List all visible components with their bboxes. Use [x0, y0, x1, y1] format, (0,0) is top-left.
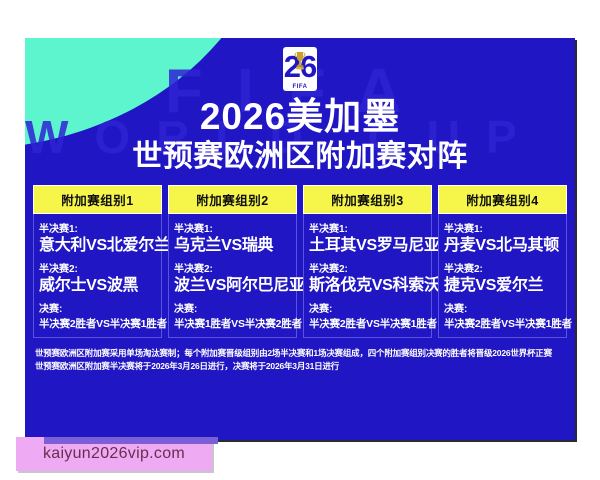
final-label: 决赛: [39, 300, 156, 315]
final-match: 半决赛2胜者VS半决赛1胜者 [309, 316, 426, 331]
group-header: 附加赛组别1 [33, 185, 162, 214]
group-column-1: 附加赛组别1 半决赛1: 意大利VS北爱尔兰 半决赛2: 威尔士VS波黑 决赛:… [33, 185, 162, 338]
watermark-bar [44, 437, 218, 444]
fifa-world-cup-26-emblem-icon: 26 FIFA [283, 47, 317, 91]
page-subtitle: 世预赛欧洲区附加赛对阵 [25, 140, 575, 173]
group-body: 半决赛1: 丹麦VS北马其顿 半决赛2: 捷克VS爱尔兰 决赛: 半决赛2胜者V… [438, 214, 567, 338]
group-column-2: 附加赛组别2 半决赛1: 乌克兰VS瑞典 半决赛2: 波兰VS阿尔巴尼亚 决赛:… [168, 185, 297, 338]
semifinal1-match: 乌克兰VS瑞典 [174, 236, 291, 256]
note-schedule: 世预赛欧洲区附加赛半决赛将于2026年3月26日进行，决赛将于2026年3月31… [35, 360, 565, 373]
semifinal1-match: 丹麦VS北马其顿 [444, 236, 561, 256]
semifinal2-label: 半决赛2: [39, 260, 156, 275]
final-label: 决赛: [174, 300, 291, 315]
semifinal2-label: 半决赛2: [309, 260, 426, 275]
semifinal1-label: 半决赛1: [39, 220, 156, 235]
final-label: 决赛: [444, 300, 561, 315]
group-header: 附加赛组别3 [303, 185, 432, 214]
final-label: 决赛: [309, 300, 426, 315]
final-match: 半决赛2胜者VS半决赛1胜者 [444, 316, 561, 331]
group-header: 附加赛组别2 [168, 185, 297, 214]
footer-notes: 世预赛欧洲区附加赛采用单场淘汰赛制；每个附加赛晋级组别由2场半决赛和1场决赛组成… [25, 347, 575, 373]
note-format: 世预赛欧洲区附加赛采用单场淘汰赛制；每个附加赛晋级组别由2场半决赛和1场决赛组成… [35, 347, 565, 360]
poster-header: 26 FIFA 2026美加墨 世预赛欧洲区附加赛对阵 [25, 38, 575, 173]
semifinal1-match: 意大利VS北爱尔兰 [39, 236, 156, 256]
group-column-4: 附加赛组别4 半决赛1: 丹麦VS北马其顿 半决赛2: 捷克VS爱尔兰 决赛: … [438, 185, 567, 338]
semifinal2-match: 威尔士VS波黑 [39, 276, 156, 296]
playoff-groups: 附加赛组别1 半决赛1: 意大利VS北爱尔兰 半决赛2: 威尔士VS波黑 决赛:… [25, 185, 575, 338]
site-watermark: kaiyun2026vip.com [16, 437, 212, 471]
semifinal1-label: 半决赛1: [174, 220, 291, 235]
trophy-icon [293, 50, 307, 77]
final-match: 半决赛1胜者VS半决赛2胜者 [174, 316, 291, 331]
final-match: 半决赛2胜者VS半决赛1胜者 [39, 316, 156, 331]
group-body: 半决赛1: 意大利VS北爱尔兰 半决赛2: 威尔士VS波黑 决赛: 半决赛2胜者… [33, 214, 162, 338]
semifinal2-match: 斯洛伐克VS科索沃 [309, 276, 426, 296]
group-column-3: 附加赛组别3 半决赛1: 土耳其VS罗马尼亚 半决赛2: 斯洛伐克VS科索沃 决… [303, 185, 432, 338]
group-body: 半决赛1: 土耳其VS罗马尼亚 半决赛2: 斯洛伐克VS科索沃 决赛: 半决赛2… [303, 214, 432, 338]
semifinal2-label: 半决赛2: [174, 260, 291, 275]
watermark-text: kaiyun2026vip.com [16, 445, 212, 463]
semifinal1-match: 土耳其VS罗马尼亚 [309, 236, 426, 256]
emblem-fifa-mark: FIFA [283, 84, 317, 90]
page-title: 2026美加墨 [25, 97, 575, 137]
group-header: 附加赛组别4 [438, 185, 567, 214]
semifinal1-label: 半决赛1: [444, 220, 561, 235]
semifinal2-label: 半决赛2: [444, 260, 561, 275]
semifinal1-label: 半决赛1: [309, 220, 426, 235]
tournament-poster: FIFA WORLD CUP 26 26 FIFA 2026美加墨 世预赛欧洲区… [25, 38, 575, 440]
semifinal2-match: 波兰VS阿尔巴尼亚 [174, 276, 291, 296]
semifinal2-match: 捷克VS爱尔兰 [444, 276, 561, 296]
group-body: 半决赛1: 乌克兰VS瑞典 半决赛2: 波兰VS阿尔巴尼亚 决赛: 半决赛1胜者… [168, 214, 297, 338]
